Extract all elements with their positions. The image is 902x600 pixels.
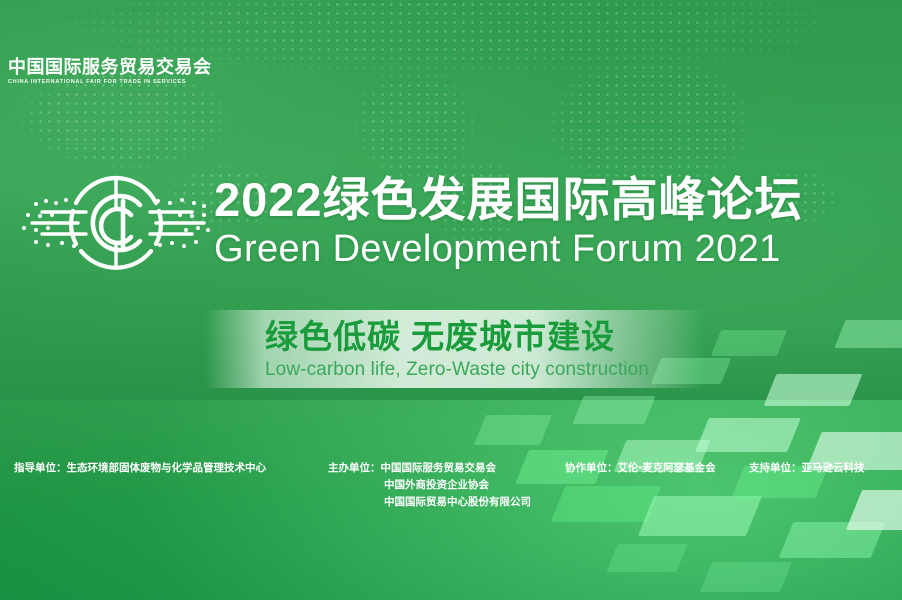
shard-15 [606,544,687,572]
shard-2 [572,396,655,424]
partner-label: 协作单位： [565,462,618,474]
ciftis-logo-en: CHINA INTERNATIONAL FAIR FOR TRADE IN SE… [8,78,188,87]
ciftis-logo-cn: 中国国际服务贸易交易会 [8,56,188,78]
support-label: 支持单位： [749,462,802,474]
footer-support-unit: 支持单位：亚马逊云科技 [749,460,865,477]
support-org-0: 亚马逊云科技 [802,462,865,474]
footer-partner-unit: 协作单位：艾伦•麦克阿瑟基金会 [565,460,716,477]
host-org-2: 中国国际贸易中心股份有限公司 [328,494,531,511]
guidance-label: 指导单位： [14,462,67,474]
slogan-banner: 绿色低碳 无废城市建设 Low-carbon life, Zero-Waste … [205,310,705,388]
host-label: 主办单位： [328,462,381,474]
forum-title-cn: 2022绿色发展国际高峰论坛 [214,172,894,228]
footer-host-unit: 主办单位：中国国际服务贸易交易会 中国外商投资企业协会 中国国际贸易中心股份有限… [328,460,531,511]
partner-org-0: 艾伦•麦克阿瑟基金会 [618,462,716,474]
poster-canvas: 中国国际服务贸易交易会 CHINA INTERNATIONAL FAIR FOR… [0,0,902,600]
ciftis-logo: 中国国际服务贸易交易会 CHINA INTERNATIONAL FAIR FOR… [8,56,188,87]
shard-7 [695,418,801,452]
shard-16 [700,562,792,592]
world-map-dot-texture [0,0,902,330]
shard-8 [711,330,788,356]
forum-title: 2022绿色发展国际高峰论坛 Green Development Forum 2… [214,172,894,272]
shard-13 [834,320,902,348]
slogan-en: Low-carbon life, Zero-Waste city constru… [265,358,649,382]
host-org-0: 中国国际服务贸易交易会 [381,462,497,474]
organisation-footer: 指导单位：生态环境部固体废物与化学品管理技术中心 主办单位：中国国际服务贸易交易… [0,458,902,538]
slogan-cn: 绿色低碳 无废城市建设 [265,316,615,358]
shard-0 [474,415,552,445]
guidance-org-0: 生态环境部固体废物与化学品管理技术中心 [67,462,267,474]
footer-guidance-unit: 指导单位：生态环境部固体废物与化学品管理技术中心 [14,460,266,477]
forum-emblem-icon [18,168,214,278]
host-org-1: 中国外商投资企业协会 [328,477,531,494]
shard-10 [764,374,863,406]
forum-title-en: Green Development Forum 2021 [214,226,894,272]
